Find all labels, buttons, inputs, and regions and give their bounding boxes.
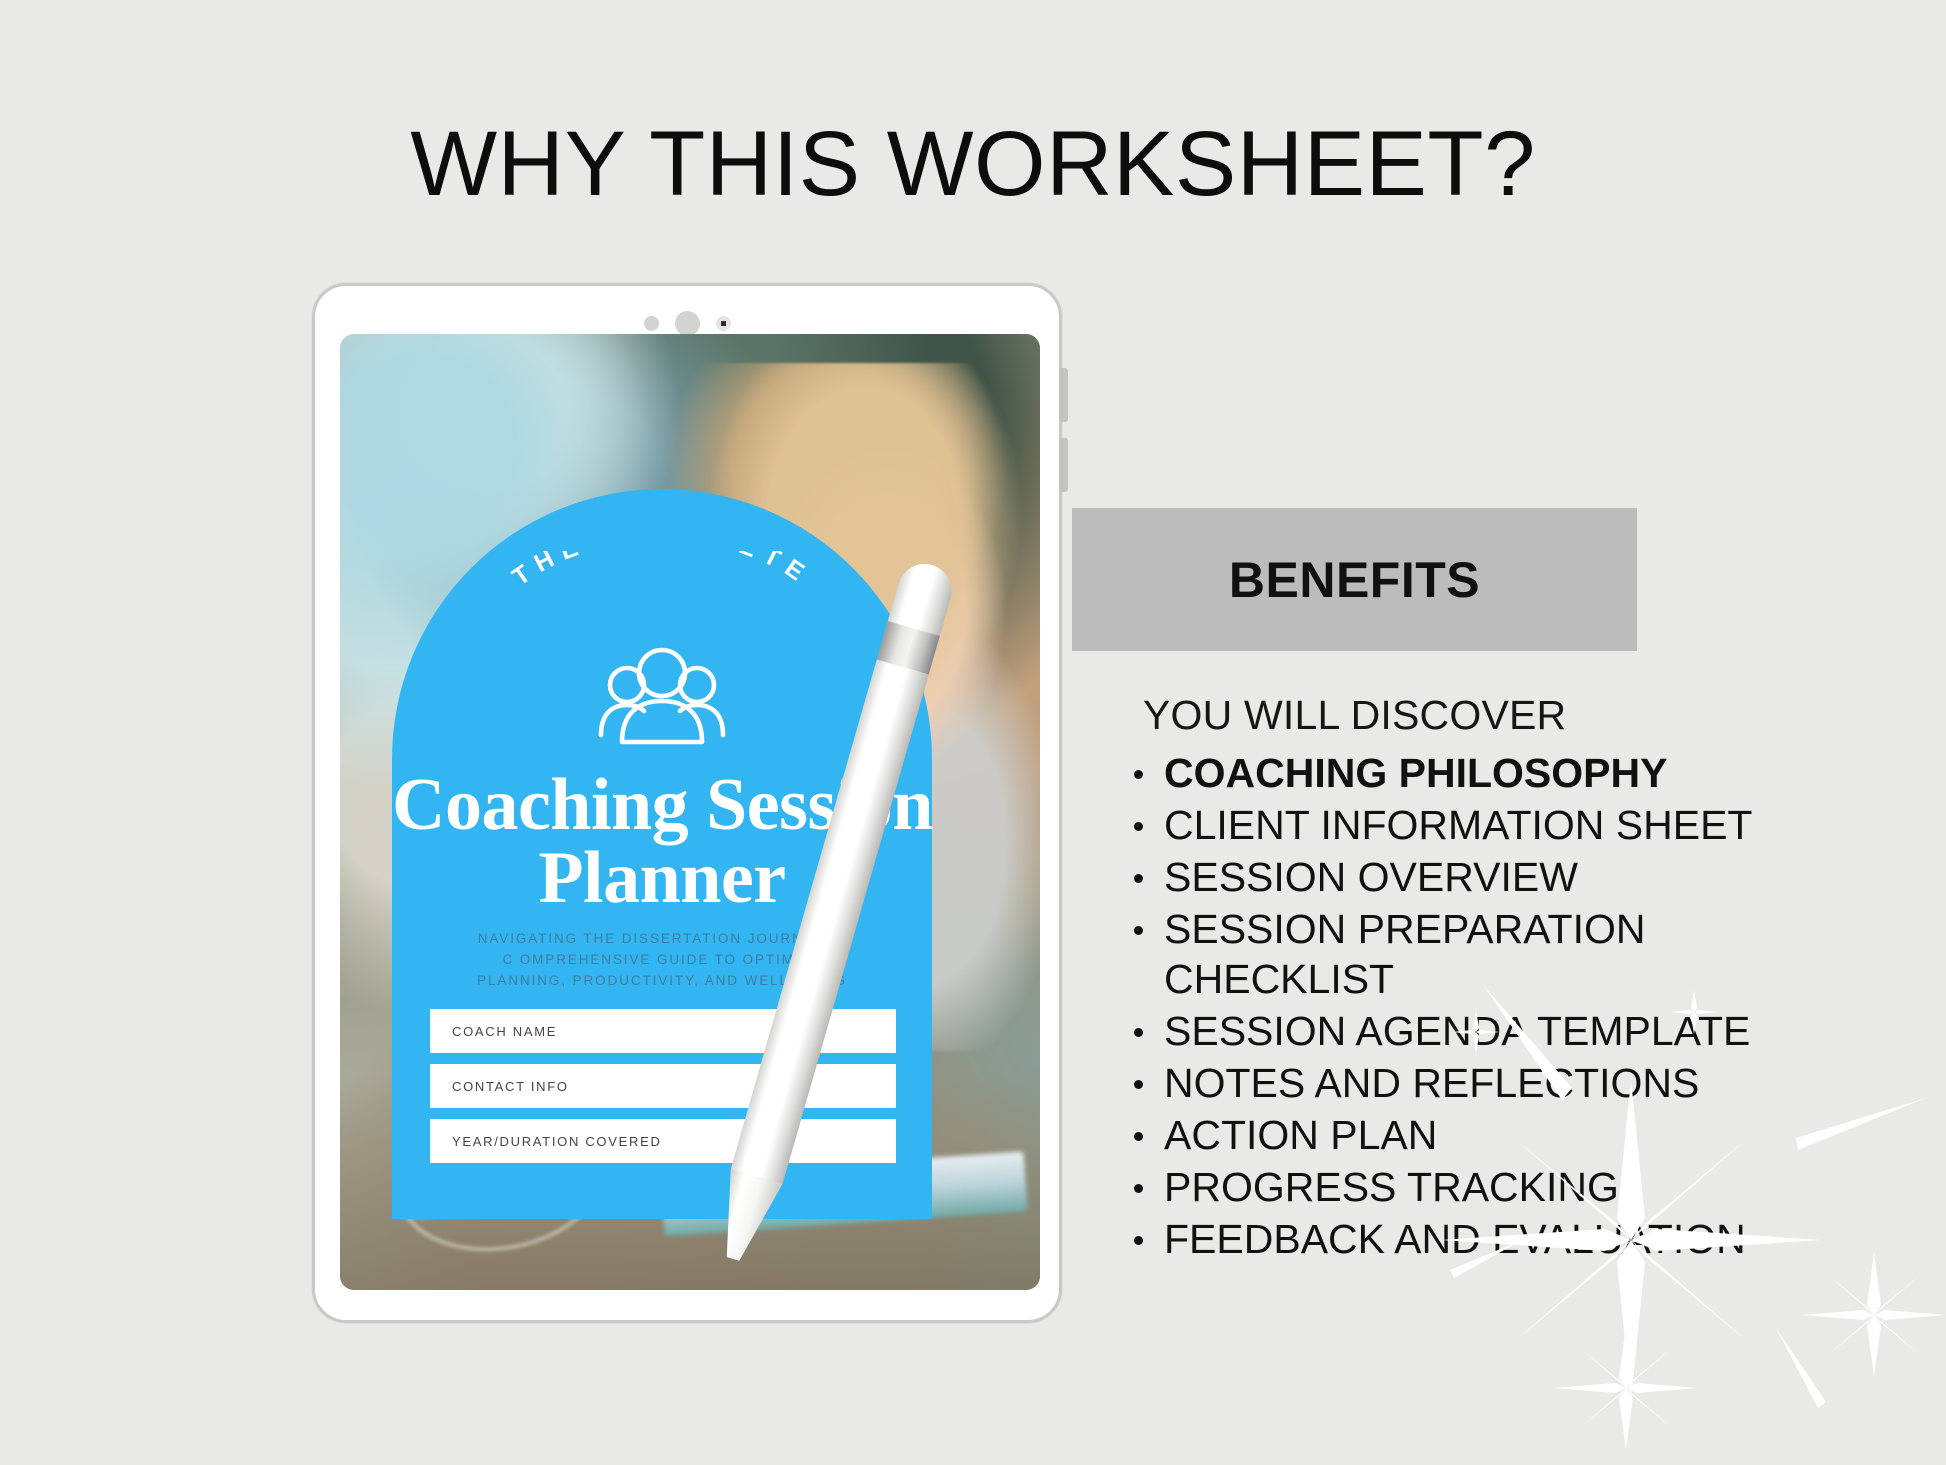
- cover-eyebrow-text: THE COMPLETE: [507, 551, 816, 591]
- svg-text:THE COMPLETE: THE COMPLETE: [507, 551, 816, 591]
- year-duration-label: YEAR/DURATION COVERED: [452, 1134, 662, 1149]
- cover-subtitle-line2: C OMPREHENSIVE GUIDE TO OPTIMIZE: [392, 950, 932, 971]
- group-of-people-icon: [392, 643, 932, 755]
- benefit-list-item: COACHING PHILOSOPHY: [1128, 748, 1768, 798]
- camera-lens-icon: [675, 311, 700, 336]
- benefit-list-item: NOTES AND REFLECTIONS: [1128, 1058, 1768, 1108]
- benefit-list-item: ACTION PLAN: [1128, 1110, 1768, 1160]
- tablet-mockup: THE COMPLETE Coaching Session Planne: [312, 283, 1062, 1323]
- tablet-volume-up-button[interactable]: [1059, 368, 1068, 422]
- benefit-list-item: PROGRESS TRACKING: [1128, 1162, 1768, 1212]
- tablet-volume-down-button[interactable]: [1059, 438, 1068, 492]
- sparkle-streak-icon: [1776, 1328, 1826, 1408]
- benefit-list-item: SESSION OVERVIEW: [1128, 852, 1768, 902]
- benefits-list: COACHING PHILOSOPHYCLIENT INFORMATION SH…: [1128, 748, 1768, 1266]
- year-duration-field[interactable]: YEAR/DURATION COVERED: [430, 1119, 896, 1163]
- benefit-list-item: SESSION PREPARATION CHECKLIST: [1128, 904, 1768, 1004]
- benefits-header-banner: BENEFITS: [1072, 508, 1637, 651]
- coach-name-label: COACH NAME: [452, 1024, 557, 1039]
- benefits-intro-text: YOU WILL DISCOVER: [1143, 692, 1566, 739]
- sparkle-medium-icon: [1554, 1326, 1698, 1450]
- cover-subtitle-line3: PLANNING, PRODUCTIVITY, AND WELL-BEING: [392, 971, 932, 992]
- contact-info-label: CONTACT INFO: [452, 1079, 569, 1094]
- benefits-header-text: BENEFITS: [1229, 551, 1480, 609]
- benefit-list-item: CLIENT INFORMATION SHEET: [1128, 800, 1768, 850]
- benefit-list-item: SESSION AGENDA TEMPLATE: [1128, 1006, 1768, 1056]
- cover-form-fields: COACH NAME CONTACT INFO YEAR/DURATION CO…: [430, 1009, 896, 1174]
- tablet-screen: THE COMPLETE Coaching Session Planne: [340, 334, 1040, 1290]
- camera-flash-icon: [716, 316, 731, 331]
- sparkle-medium-icon: [1802, 1253, 1946, 1377]
- benefit-list-item: FEEDBACK AND EVALUATION: [1128, 1214, 1768, 1264]
- camera-sensor-icon: [644, 316, 659, 331]
- sparkle-streak-icon: [1796, 1098, 1926, 1150]
- contact-info-field[interactable]: CONTACT INFO: [430, 1064, 896, 1108]
- page-title: WHY THIS WORKSHEET?: [0, 118, 1946, 210]
